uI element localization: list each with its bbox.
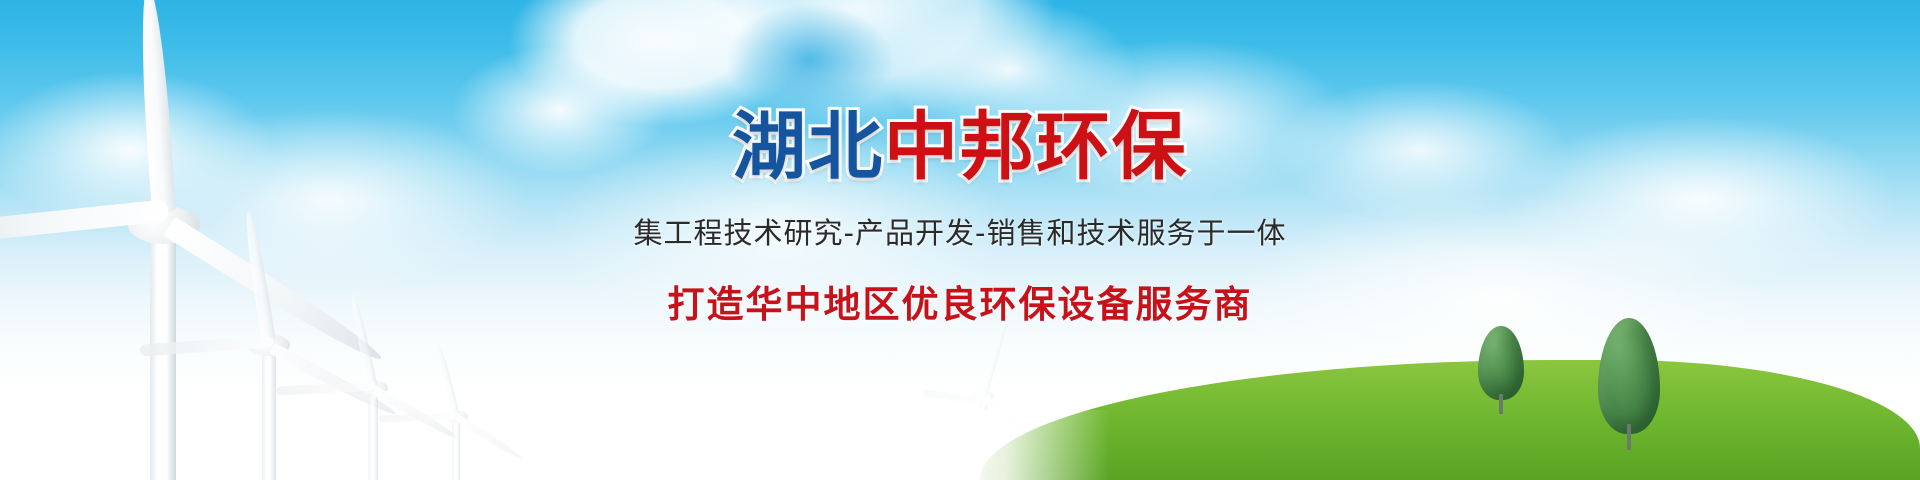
turbine-mast xyxy=(368,390,378,480)
turbine-blade xyxy=(980,312,1010,397)
tree-crown xyxy=(1478,326,1524,400)
tree-crown xyxy=(1598,318,1660,434)
cypress-tree-large xyxy=(1598,318,1660,450)
turbine-mast xyxy=(262,348,276,480)
cypress-tree-small xyxy=(1478,326,1524,414)
turbine-blade xyxy=(348,293,378,389)
tree-trunk xyxy=(1627,424,1631,450)
turbine-blade xyxy=(136,0,176,213)
turbine-blade xyxy=(241,211,275,344)
turbine-blade xyxy=(435,345,460,417)
wind-turbine-distant xyxy=(900,0,1100,480)
tree-trunk xyxy=(1499,394,1503,414)
turbine-mast xyxy=(452,418,460,480)
wind-turbine-fourth xyxy=(410,0,630,480)
turbine-blade xyxy=(456,415,524,461)
grass-hill-fade xyxy=(950,410,1110,480)
hero-banner: 湖北 中邦环保 集工程技术研究-产品开发-销售和技术服务于一体 打造华中地区优良… xyxy=(0,0,1920,480)
